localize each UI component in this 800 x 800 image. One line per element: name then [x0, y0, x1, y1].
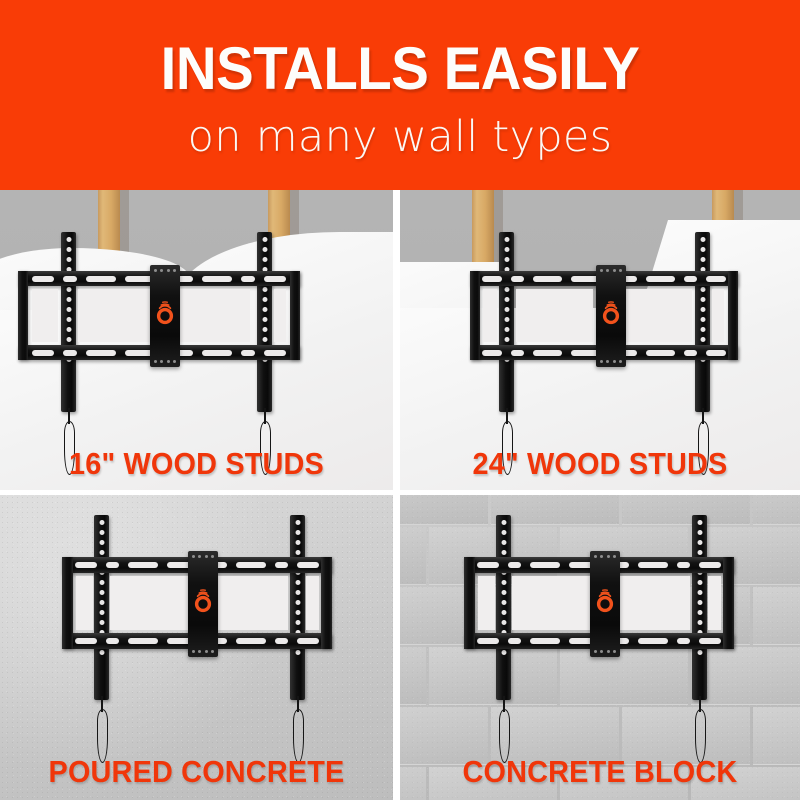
bracket-window: [274, 289, 286, 342]
bracket-side-left: [470, 271, 480, 360]
rail-slot-group: [482, 276, 600, 282]
bracket-window: [483, 289, 497, 342]
post-hole-column: [262, 237, 267, 362]
bracket-post-left: [94, 515, 109, 700]
product-infographic: INSTALLS EASILY on many wall types: [0, 0, 800, 800]
plate-dot-row: [590, 555, 620, 558]
bracket-window: [110, 576, 188, 630]
rail-slot-group: [75, 638, 197, 644]
bracket-window: [612, 576, 690, 630]
bracket-side-left: [18, 271, 28, 360]
post-hole-column: [700, 237, 705, 362]
bracket-window: [478, 576, 495, 630]
bracket-center-plate: [596, 265, 626, 367]
header-banner: INSTALLS EASILY on many wall types: [0, 0, 800, 190]
tv-mount-bracket: [470, 232, 770, 432]
bracket-side-right: [723, 557, 734, 649]
plate-dot-row: [590, 650, 620, 653]
bracket-side-right: [290, 271, 300, 360]
rail-slot-group: [32, 276, 155, 282]
bracket-window: [76, 576, 93, 630]
bracket-window: [512, 576, 590, 630]
bracket-post-right: [290, 515, 305, 700]
bracket-window: [32, 289, 58, 342]
bracket-window: [712, 289, 724, 342]
bracket-post-left: [496, 515, 511, 700]
subheadline: on many wall types: [0, 113, 800, 161]
panel-caption: 24" WOOD STUDS: [414, 446, 786, 482]
rail-slot-group: [482, 350, 600, 356]
post-hole-column: [66, 237, 71, 362]
panel-caption: POURED CONCRETE: [14, 754, 379, 790]
tv-mount-bracket: [464, 515, 744, 735]
rail-slot-group: [477, 562, 599, 568]
plate-dot-row: [150, 360, 180, 363]
rail-slot-group: [32, 350, 155, 356]
panel-wood-studs-16: 16" WOOD STUDS: [0, 190, 393, 490]
bracket-post-right: [695, 232, 710, 412]
bracket-post-left: [499, 232, 514, 412]
bracket-post-right: [257, 232, 272, 412]
panel-concrete-block: CONCRETE BLOCK: [400, 495, 800, 800]
panel-caption: 16" WOOD STUDS: [14, 446, 379, 482]
bracket-center-plate: [150, 265, 180, 367]
bracket-window: [306, 576, 319, 630]
bracket-side-right: [321, 557, 332, 649]
rail-slot-group: [477, 638, 599, 644]
echogear-signal-icon: [190, 587, 216, 613]
bracket-side-left: [62, 557, 73, 649]
rail-slot-group: [163, 276, 286, 282]
bracket-side-right: [728, 271, 738, 360]
bracket-window: [78, 289, 155, 342]
tv-mount-bracket: [18, 232, 318, 432]
plate-dot-row: [188, 650, 218, 653]
rail-slot-group: [75, 562, 197, 568]
rail-slot-group: [163, 350, 286, 356]
echogear-signal-icon: [598, 299, 624, 325]
plate-dot-row: [596, 269, 626, 272]
bracket-side-left: [464, 557, 475, 649]
plate-dot-row: [150, 269, 180, 272]
bracket-center-plate: [188, 551, 218, 657]
bracket-window: [616, 289, 692, 342]
bracket-post-right: [692, 515, 707, 700]
bracket-center-plate: [590, 551, 620, 657]
bracket-window: [516, 289, 593, 342]
echogear-signal-icon: [592, 587, 618, 613]
tv-mount-bracket: [62, 515, 342, 735]
bracket-window: [170, 289, 250, 342]
panel-poured-concrete: POURED CONCRETE: [0, 495, 393, 800]
headline: INSTALLS EASILY: [24, 38, 776, 100]
echogear-signal-icon: [152, 299, 178, 325]
bracket-window: [210, 576, 288, 630]
bracket-post-left: [61, 232, 76, 412]
plate-dot-row: [188, 555, 218, 558]
panel-caption: CONCRETE BLOCK: [414, 754, 786, 790]
plate-dot-row: [596, 360, 626, 363]
panel-wood-studs-24: 24" WOOD STUDS: [400, 190, 800, 490]
post-hole-column: [504, 237, 509, 362]
wall-type-grid: 16" WOOD STUDS: [0, 190, 800, 800]
bracket-window: [708, 576, 721, 630]
